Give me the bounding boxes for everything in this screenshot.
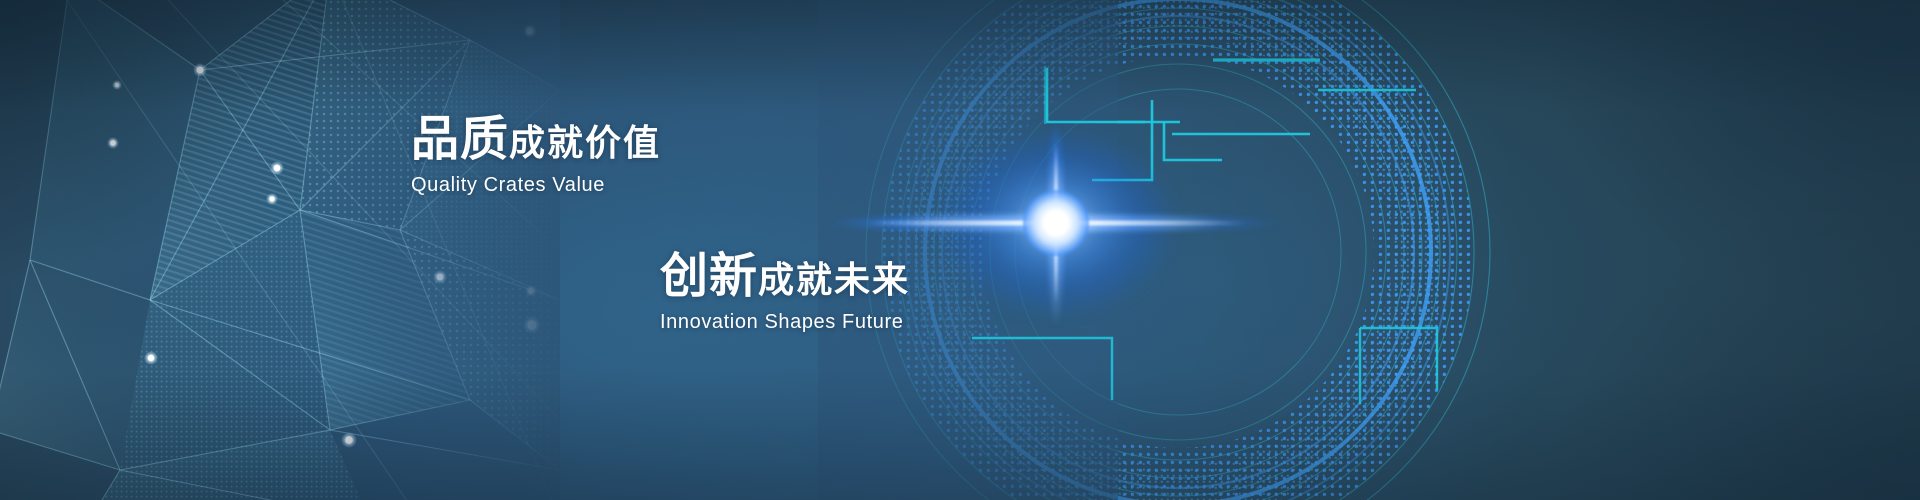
tagline-innovation-chinese: 创新成就未来 (660, 253, 910, 301)
tagline-quality-chinese-rest: 成就价值 (509, 122, 661, 163)
hero-banner: 品质成就价值 Quality Crates Value 创新成就未来 Innov… (0, 0, 1920, 500)
tagline-innovation: 创新成就未来 Innovation Shapes Future (660, 253, 910, 334)
tagline-quality-english: Quality Crates Value (411, 174, 661, 197)
tagline-innovation-english: Innovation Shapes Future (660, 311, 910, 334)
tagline-innovation-chinese-lead: 创新 (660, 250, 758, 303)
tagline-innovation-chinese-rest: 成就未来 (758, 259, 910, 300)
tagline-quality: 品质成就价值 Quality Crates Value (411, 116, 661, 197)
corner-shadow-overlay (0, 0, 1920, 500)
tagline-quality-chinese: 品质成就价值 (411, 116, 661, 164)
tagline-quality-chinese-lead: 品质 (411, 113, 509, 166)
